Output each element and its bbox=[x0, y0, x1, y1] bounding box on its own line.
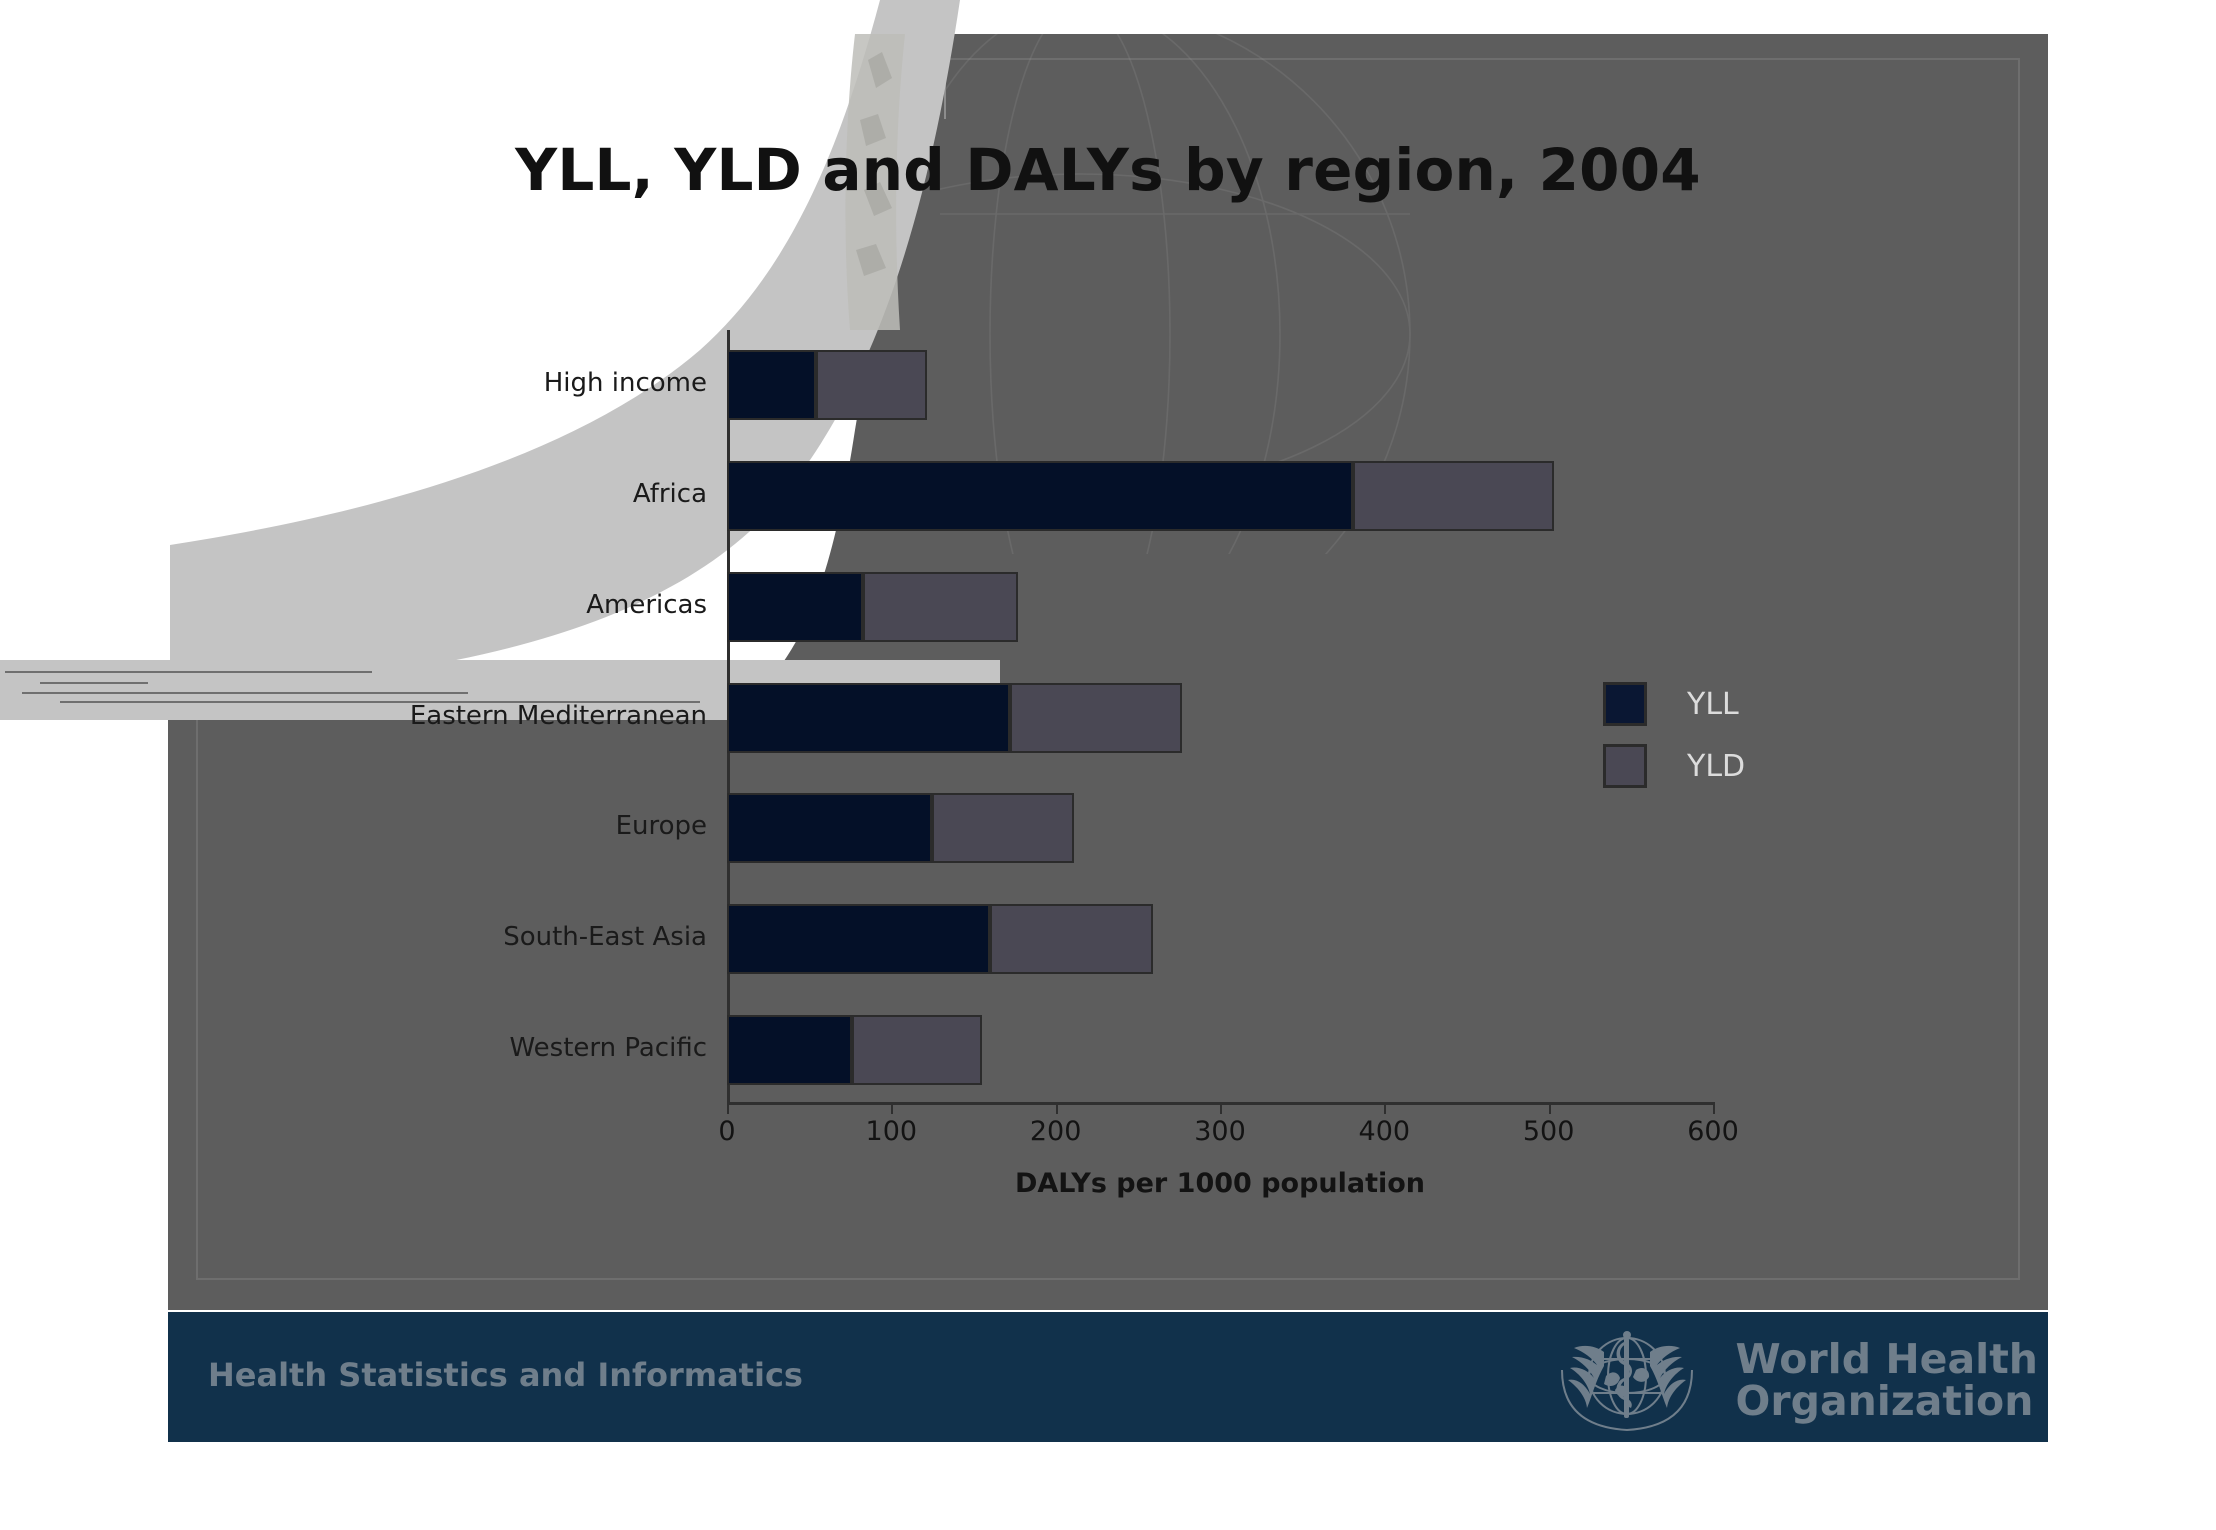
who-emblem-icon bbox=[1532, 1326, 1722, 1434]
legend-item-yll: YLL bbox=[1603, 682, 1745, 726]
x-tick-label: 0 bbox=[718, 1116, 735, 1147]
who-wordmark: World Health Organization bbox=[1736, 1338, 2038, 1422]
bar-segment-yll bbox=[727, 461, 1353, 531]
category-label: Americas bbox=[367, 590, 707, 620]
bar-segment-yld bbox=[1353, 461, 1553, 531]
x-axis-title: DALYs per 1000 population bbox=[727, 1168, 1713, 1199]
category-label: Europe bbox=[367, 811, 707, 841]
bar-row bbox=[727, 1015, 982, 1085]
x-tick-mark bbox=[891, 1105, 893, 1114]
bar-segment-yld bbox=[932, 793, 1073, 863]
bar-row bbox=[727, 904, 1153, 974]
x-tick-mark bbox=[727, 1105, 729, 1114]
bar-segment-yld bbox=[990, 904, 1153, 974]
bar-segment-yll bbox=[727, 683, 1010, 753]
slide: YLL, YLD and DALYs by region, 2004 01002… bbox=[0, 0, 2216, 1530]
category-label: High income bbox=[367, 368, 707, 398]
category-label: Africa bbox=[367, 479, 707, 509]
bar-segment-yld bbox=[1010, 683, 1183, 753]
bar-segment-yll bbox=[727, 904, 990, 974]
category-label: South-East Asia bbox=[367, 922, 707, 952]
bar-segment-yll bbox=[727, 1015, 852, 1085]
bar-row bbox=[727, 793, 1074, 863]
chart-legend: YLL YLD bbox=[1603, 682, 1745, 806]
x-tick-label: 400 bbox=[1359, 1116, 1411, 1147]
bar-row bbox=[727, 461, 1554, 531]
decorative-vertical-line bbox=[944, 34, 946, 119]
legend-swatch-yll-icon bbox=[1603, 682, 1647, 726]
footer-department-label: Health Statistics and Informatics bbox=[208, 1356, 803, 1394]
bar-segment-yll bbox=[727, 572, 863, 642]
bar-segment-yll bbox=[727, 793, 932, 863]
x-tick-mark bbox=[1384, 1105, 1386, 1114]
bar-segment-yll bbox=[727, 350, 816, 420]
category-label: Eastern Mediterranean bbox=[367, 701, 707, 731]
x-tick-label: 300 bbox=[1194, 1116, 1246, 1147]
legend-label-yll: YLL bbox=[1687, 687, 1739, 722]
slide-footer: Health Statistics and Informatics bbox=[168, 1312, 2048, 1442]
bar-segment-yld bbox=[852, 1015, 982, 1085]
bar-segment-yld bbox=[816, 350, 928, 420]
x-tick-mark bbox=[1220, 1105, 1222, 1114]
x-tick-mark bbox=[1056, 1105, 1058, 1114]
x-tick-mark bbox=[1549, 1105, 1551, 1114]
x-tick-mark bbox=[1713, 1105, 1715, 1114]
slide-title: YLL, YLD and DALYs by region, 2004 bbox=[0, 136, 2216, 204]
x-tick-label: 600 bbox=[1687, 1116, 1739, 1147]
legend-item-yld: YLD bbox=[1603, 744, 1745, 788]
x-tick-label: 500 bbox=[1523, 1116, 1575, 1147]
category-label: Western Pacific bbox=[367, 1033, 707, 1063]
bar-row bbox=[727, 350, 927, 420]
bar-row bbox=[727, 683, 1182, 753]
legend-label-yld: YLD bbox=[1687, 749, 1745, 784]
legend-swatch-yld-icon bbox=[1603, 744, 1647, 788]
bar-segment-yld bbox=[863, 572, 1017, 642]
plot-area: 0100200300400500600 DALYs per 1000 popul… bbox=[727, 330, 1713, 1105]
who-wordmark-line2: Organization bbox=[1736, 1380, 2038, 1422]
who-branding: World Health Organization bbox=[1532, 1326, 2038, 1434]
who-wordmark-line1: World Health bbox=[1736, 1338, 2038, 1380]
x-tick-label: 100 bbox=[866, 1116, 918, 1147]
bar-row bbox=[727, 572, 1018, 642]
x-tick-label: 200 bbox=[1030, 1116, 1082, 1147]
bar-chart: 0100200300400500600 DALYs per 1000 popul… bbox=[727, 330, 1717, 1105]
